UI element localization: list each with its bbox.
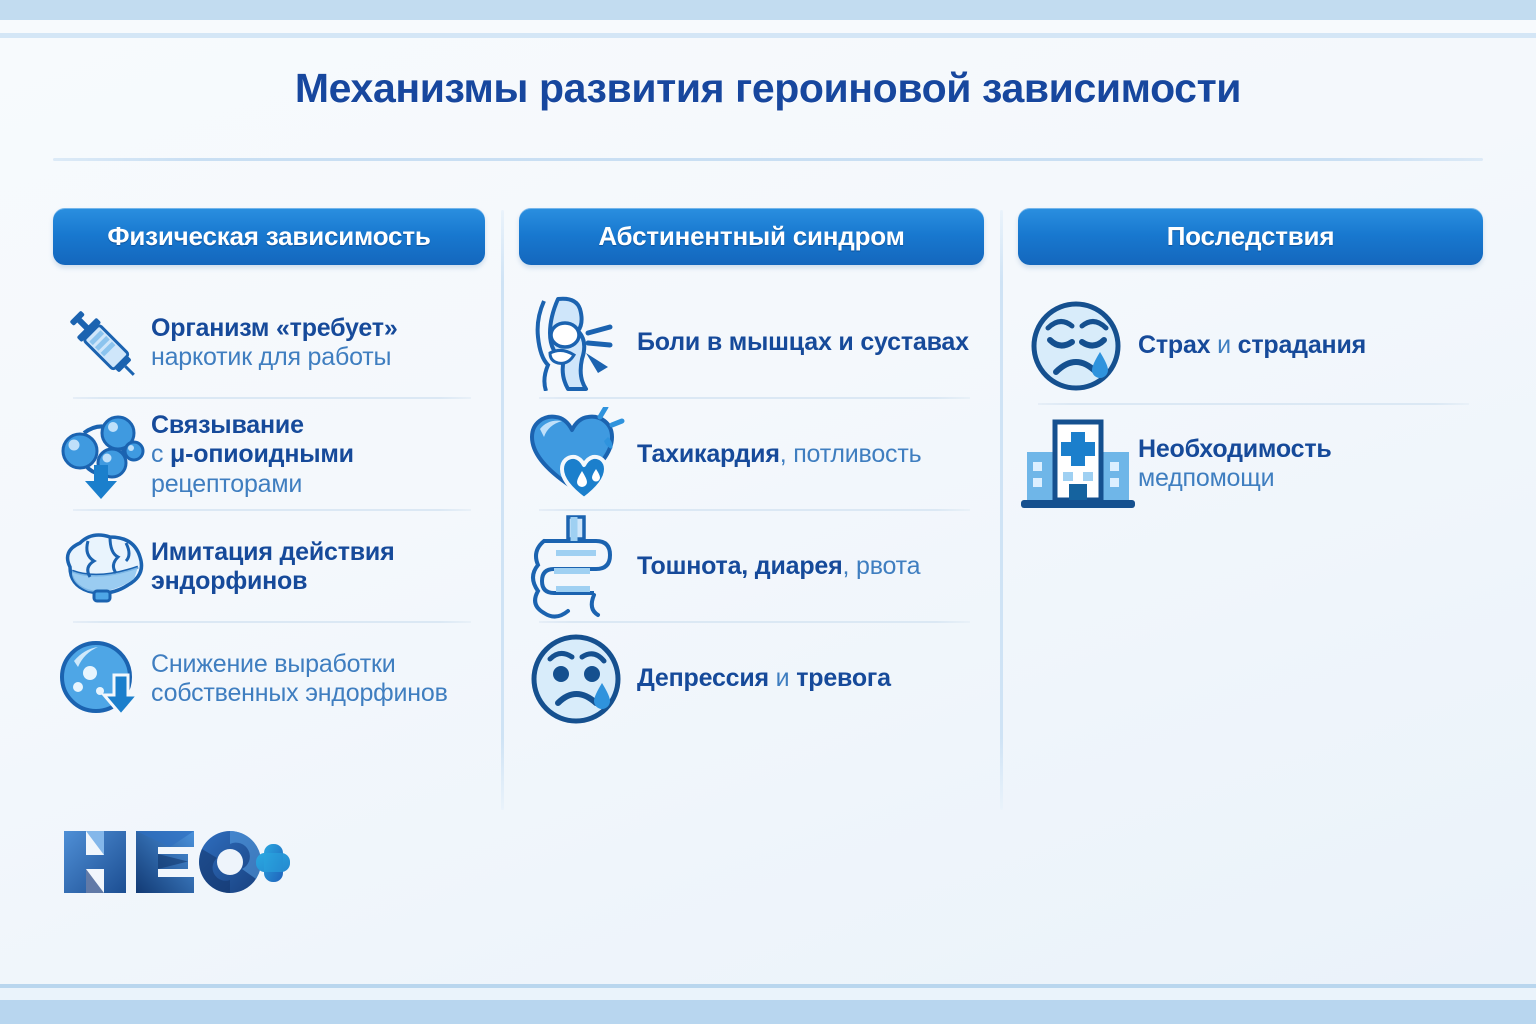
list-item[interactable]: Боли в мышцах и суставах	[519, 287, 984, 399]
list-item[interactable]: Необходимость медпомощи	[1018, 405, 1483, 523]
syringe-icon	[53, 295, 151, 391]
endorphin-decrease-icon	[53, 631, 151, 727]
top-white-band	[0, 20, 1536, 33]
list-item-line: эндорфинов	[151, 567, 394, 597]
list-item-line: Необходимость	[1138, 435, 1332, 465]
list-item-text: Тошнота, диарея, рвота	[637, 552, 920, 582]
list-item-line: Тахикардия, потливость	[637, 440, 921, 470]
suffering-face-icon	[1018, 298, 1138, 394]
list-item-text: Страх и страдания	[1138, 331, 1366, 361]
column-items-withdrawal: Боли в мышцах и суставах	[519, 287, 984, 735]
list-item[interactable]: Депрессия и тревога	[519, 623, 984, 735]
knee-joint-pain-icon	[519, 295, 637, 391]
list-item-text: Боли в мышцах и суставах	[637, 328, 969, 358]
list-item-line: с μ-опиоидными	[151, 440, 354, 470]
list-item-text: Связывание с μ-опиоидными рецепторами	[151, 411, 354, 500]
molecule-receptor-icon	[53, 407, 151, 503]
column-header-consequences[interactable]: Последствия	[1018, 208, 1483, 265]
intestines-icon	[519, 519, 637, 615]
list-item-line: Связывание	[151, 411, 354, 441]
list-item-text: Имитация действия эндорфинов	[151, 538, 394, 597]
list-item-line: Депрессия и тревога	[637, 664, 891, 694]
column-header-label: Физическая зависимость	[107, 221, 430, 252]
sad-face-tear-icon	[519, 631, 637, 727]
column-header-physical-dependence[interactable]: Физическая зависимость	[53, 208, 485, 265]
list-item-line: Снижение выработки	[151, 650, 448, 680]
heart-sweat-icon	[519, 407, 637, 503]
column-divider-1	[501, 210, 504, 810]
list-item[interactable]: Тошнота, диарея, рвота	[519, 511, 984, 623]
column-consequences: Последствия	[1018, 208, 1483, 523]
list-item-line: рецепторами	[151, 470, 354, 500]
bottom-white-band	[0, 988, 1536, 1000]
list-item[interactable]: Связывание с μ-опиоидными рецепторами	[53, 399, 485, 511]
neo-plus-logo[interactable]: НЕО+	[60, 823, 290, 906]
hospital-icon	[1018, 416, 1138, 512]
list-item-text: Тахикардия, потливость	[637, 440, 921, 470]
top-band	[0, 0, 1536, 20]
list-item[interactable]: Организм «требует» наркотик для работы	[53, 287, 485, 399]
list-item-text: Необходимость медпомощи	[1138, 435, 1332, 494]
list-item[interactable]: Тахикардия, потливость	[519, 399, 984, 511]
list-item-line: Организм «требует»	[151, 314, 398, 344]
column-physical-dependence: Физическая зависимость	[53, 208, 485, 735]
list-item-line: Страх и страдания	[1138, 331, 1366, 361]
bottom-band	[0, 1000, 1536, 1024]
list-item[interactable]: Имитация действия эндорфинов	[53, 511, 485, 623]
column-withdrawal-syndrome: Абстинентный синдром	[519, 208, 984, 735]
list-item[interactable]: Страх и страдания	[1018, 287, 1483, 405]
list-item-line: наркотик для работы	[151, 343, 398, 373]
column-items-consequences: Страх и страдания	[1018, 287, 1483, 523]
list-item-line: Тошнота, диарея, рвота	[637, 552, 920, 582]
list-item-line: Имитация действия	[151, 538, 394, 568]
column-header-label: Абстинентный синдром	[598, 221, 904, 252]
list-item-line: медпомощи	[1138, 464, 1332, 494]
brain-icon	[53, 519, 151, 615]
list-item-text: Организм «требует» наркотик для работы	[151, 314, 398, 373]
list-item-text: Снижение выработки собственных эндорфино…	[151, 650, 448, 709]
column-items-physical: Организм «требует» наркотик для работы	[53, 287, 485, 735]
column-header-label: Последствия	[1167, 221, 1335, 252]
list-item[interactable]: Снижение выработки собственных эндорфино…	[53, 623, 485, 735]
list-item-line: Боли в мышцах и суставах	[637, 328, 969, 358]
infographic-stage: Механизмы развития героиновой зависимост…	[0, 38, 1536, 984]
column-divider-2	[1000, 210, 1003, 810]
list-item-text: Депрессия и тревога	[637, 664, 891, 694]
column-header-withdrawal-syndrome[interactable]: Абстинентный синдром	[519, 208, 984, 265]
list-item-line: собственных эндорфинов	[151, 679, 448, 709]
